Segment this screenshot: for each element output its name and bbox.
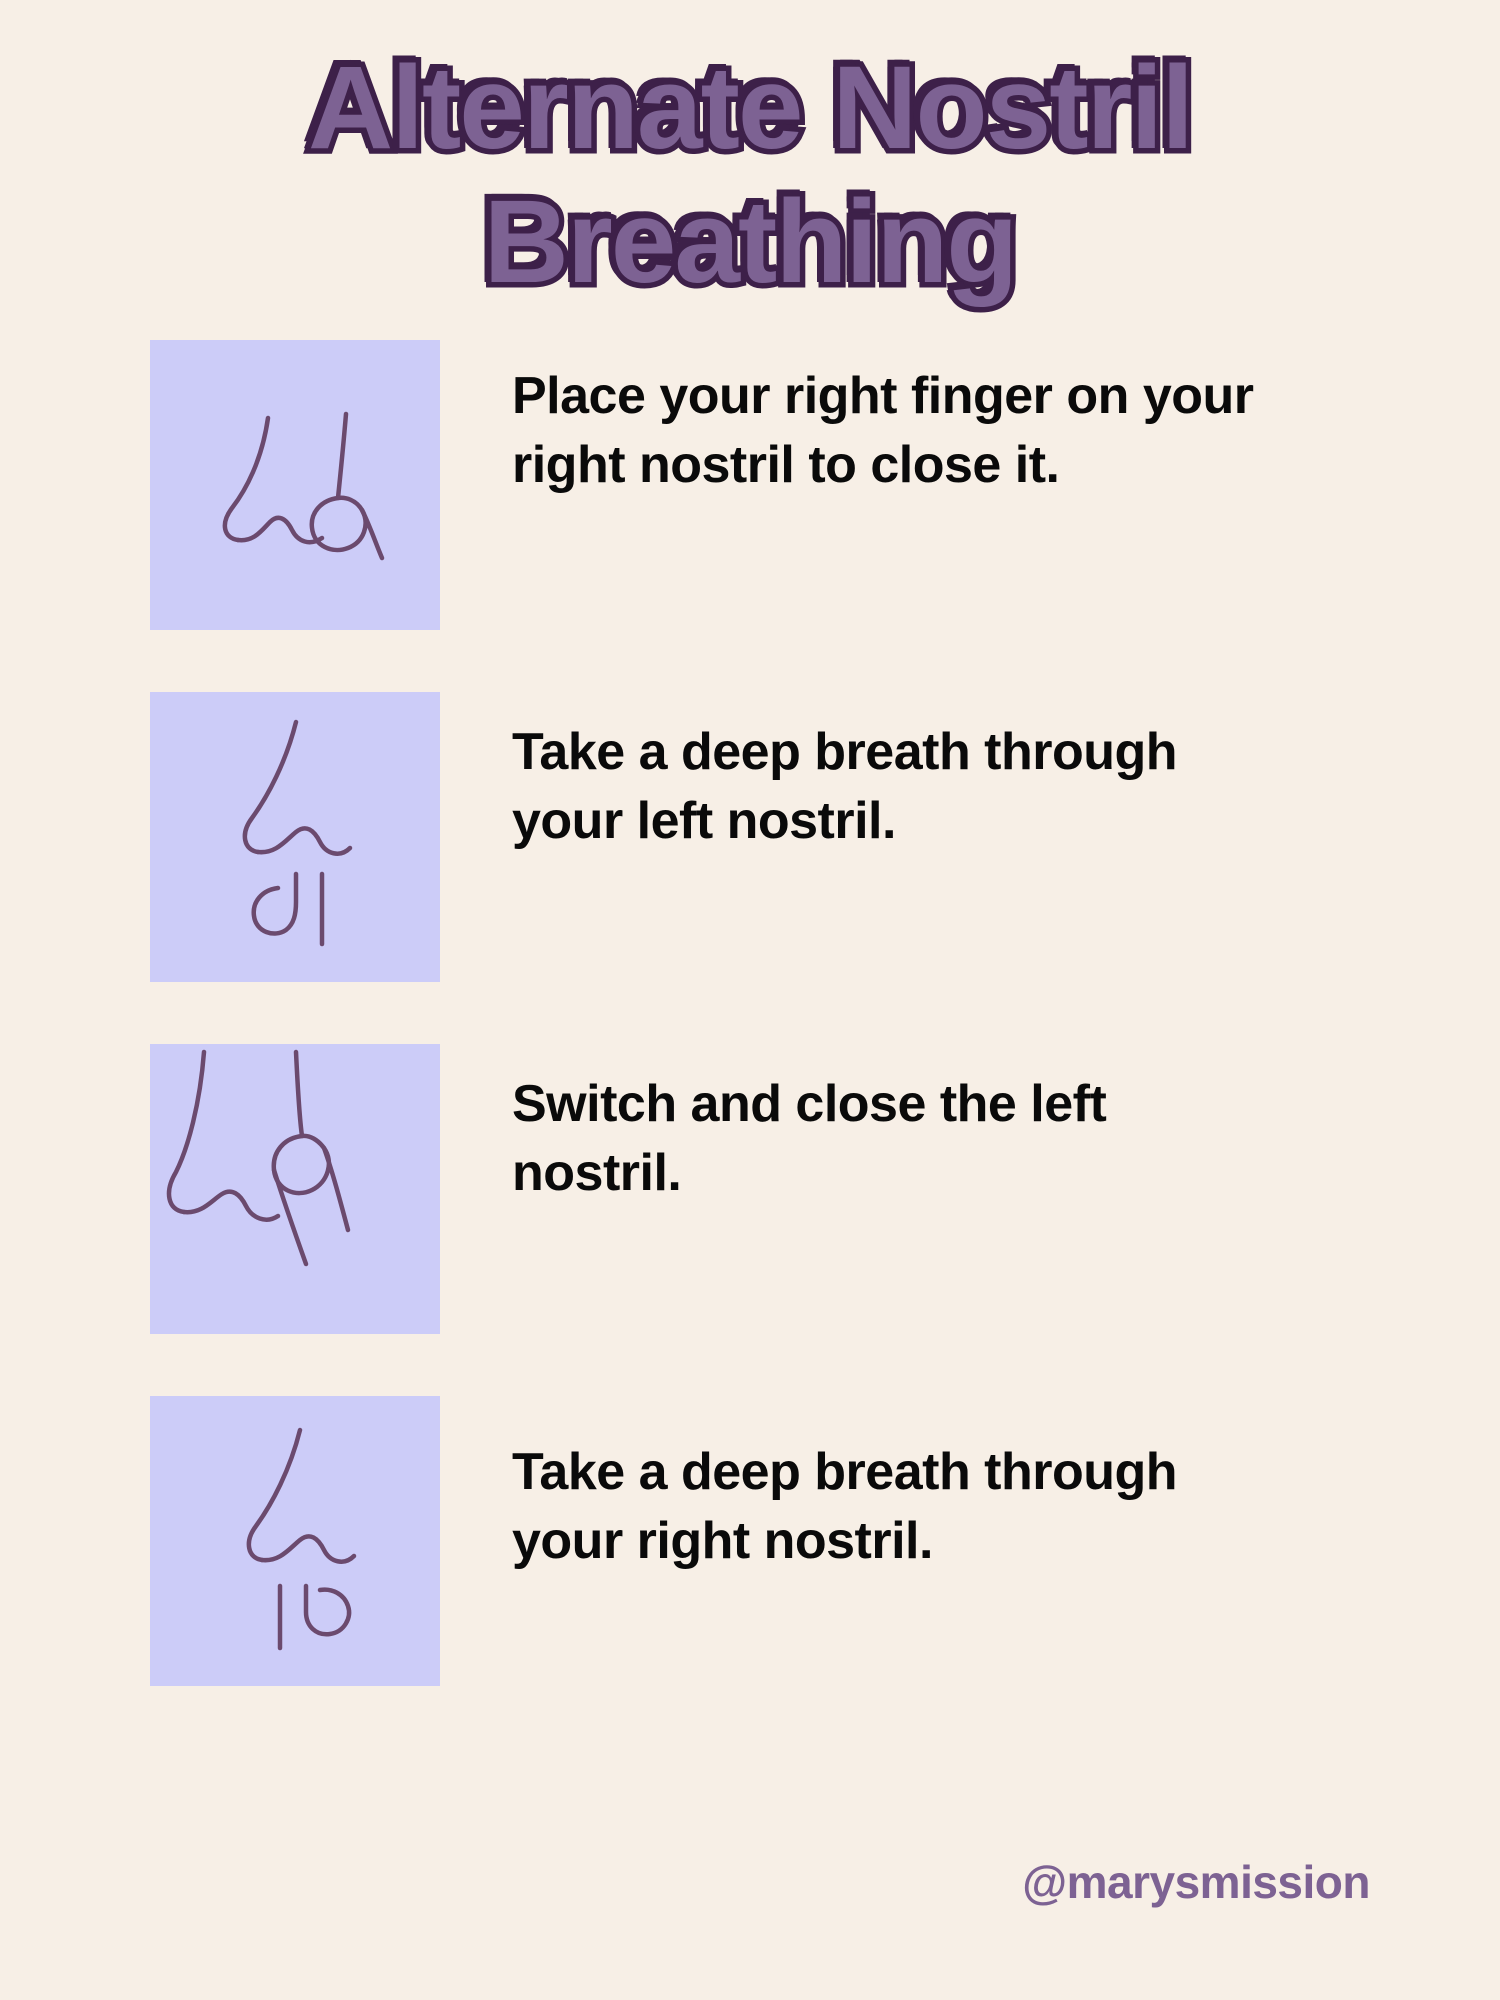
nose-profile-finger-below-right-icon xyxy=(150,1396,440,1686)
steps-list: Place your right finger on your right no… xyxy=(0,340,1500,1686)
step-2-text: Take a deep breath through your left nos… xyxy=(512,718,1272,855)
page-title: Alternate Nostril Breathing xyxy=(0,0,1500,303)
step-4-text: Take a deep breath through your right no… xyxy=(512,1438,1272,1575)
step-row: Take a deep breath through your left nos… xyxy=(0,692,1500,982)
page-title-line-2: Breathing xyxy=(0,182,1500,302)
step-row: Switch and close the left nostril. xyxy=(0,1044,1500,1334)
nose-profile-finger-below-icon xyxy=(150,692,440,982)
social-handle[interactable]: @marysmission xyxy=(1022,1855,1370,1909)
step-3-text: Switch and close the left nostril. xyxy=(512,1070,1272,1207)
page-title-line-1: Alternate Nostril xyxy=(0,48,1500,168)
step-1-illustration-tile xyxy=(150,340,440,630)
step-3-illustration-tile xyxy=(150,1044,440,1334)
step-row: Place your right finger on your right no… xyxy=(0,340,1500,630)
nose-left-nostril-closed-icon xyxy=(150,1044,440,1334)
step-1-text: Place your right finger on your right no… xyxy=(512,362,1272,499)
step-row: Take a deep breath through your right no… xyxy=(0,1396,1500,1686)
step-4-illustration-tile xyxy=(150,1396,440,1686)
step-2-illustration-tile xyxy=(150,692,440,982)
nose-right-nostril-closed-icon xyxy=(150,340,440,630)
